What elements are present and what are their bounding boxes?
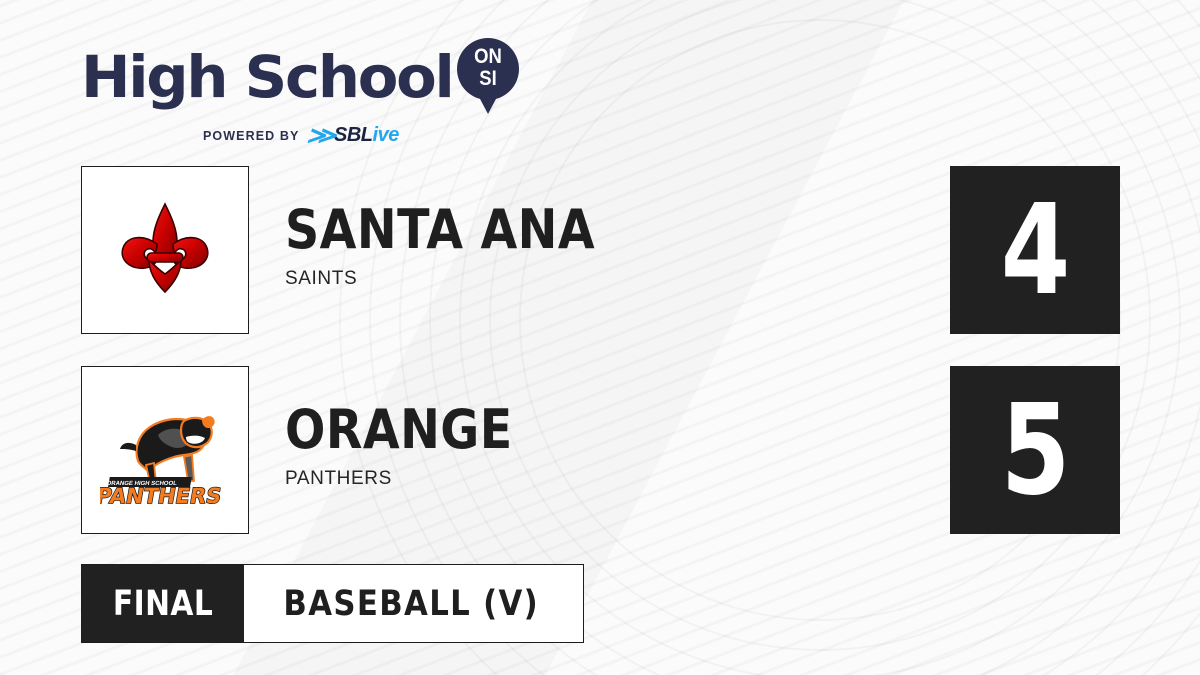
sport-label-panel: BASEBALL (V) xyxy=(244,565,583,642)
brand-header: High School ON SI POWERED BY ≫ SBL ive xyxy=(81,38,511,134)
panther-mascot-icon: ORANGE HIGH SCHOOL PANTHERS xyxy=(100,385,230,515)
brand-title: High School xyxy=(81,48,453,106)
brand-title-row: High School ON SI xyxy=(81,38,511,116)
sport-label: BASEBALL (V) xyxy=(284,584,540,624)
pin-label-line2: SI xyxy=(461,68,516,90)
pin-label-line1: ON xyxy=(461,46,516,68)
sblive-name-dark: SBL xyxy=(334,124,373,147)
pin-label: ON SI xyxy=(461,46,516,90)
score-box-home: 5 xyxy=(950,366,1120,534)
team-logo-card-away xyxy=(81,166,249,334)
team-name-away: SANTA ANA xyxy=(285,202,595,258)
panther-wordmark-group: ORANGE HIGH SCHOOL PANTHERS xyxy=(100,477,223,508)
panther-tail xyxy=(120,443,136,451)
powered-by-label: POWERED BY xyxy=(203,129,299,143)
on-si-pin-icon: ON SI xyxy=(457,38,519,116)
team-mascot-home: PANTHERS xyxy=(285,468,544,490)
score-value-home: 5 xyxy=(1000,388,1070,513)
team-info-home: ORANGE PANTHERS xyxy=(285,402,544,490)
team-name-home: ORANGE xyxy=(285,402,513,458)
fleur-de-lis-icon xyxy=(105,190,225,310)
team-info-away: SANTA ANA SAINTS xyxy=(285,202,637,290)
team-logo-card-home: ORANGE HIGH SCHOOL PANTHERS xyxy=(81,366,249,534)
score-box-away: 4 xyxy=(950,166,1120,334)
scoreboard-graphic: High School ON SI POWERED BY ≫ SBL ive xyxy=(0,0,1200,675)
status-badge: FINAL xyxy=(82,565,244,642)
status-badge-label: FINAL xyxy=(113,584,213,624)
sblive-name-blue: ive xyxy=(373,124,399,147)
powered-by-row: POWERED BY ≫ SBL ive xyxy=(203,122,511,149)
panther-wordmark-text: PANTHERS xyxy=(100,483,223,508)
team-mascot-away: SAINTS xyxy=(285,268,637,290)
score-value-away: 4 xyxy=(1000,188,1070,313)
game-status-bar: FINAL BASEBALL (V) xyxy=(81,564,584,643)
sblive-logo: ≫ SBL ive xyxy=(309,122,398,149)
sblive-chevron-icon: ≫ xyxy=(306,122,335,149)
